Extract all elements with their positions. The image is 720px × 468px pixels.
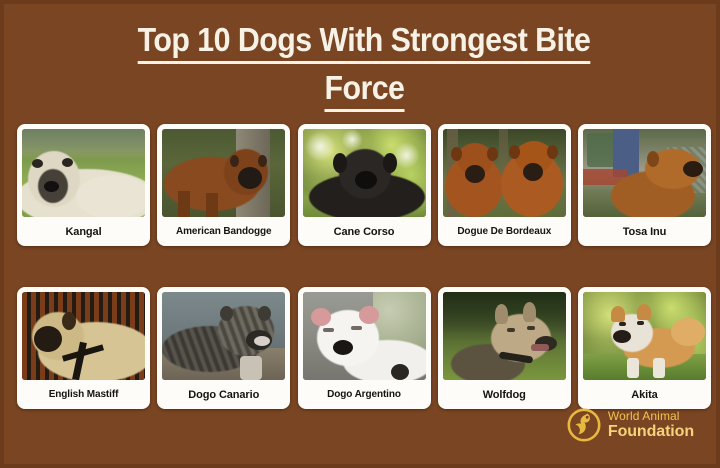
- dog-card-cane-corso[interactable]: Cane Corso: [298, 124, 431, 246]
- dog-photo-tosa-inu: [583, 129, 706, 217]
- dog-label-akita: Akita: [583, 380, 706, 409]
- dog-label-dogo-argentino: Dogo Argentino: [303, 380, 426, 409]
- page-title: Top 10 Dogs With Strongest Bite Force: [4, 20, 720, 112]
- dog-card-dogo-argentino[interactable]: Dogo Argentino: [298, 287, 431, 409]
- dog-card-dogo-canario[interactable]: Dogo Canario: [157, 287, 290, 409]
- dog-label-dogue-de-bordeaux: Dogue De Bordeaux: [443, 217, 566, 246]
- dog-photo-dogue-de-bordeaux: [443, 129, 566, 217]
- dog-photo-cane-corso: [303, 129, 426, 217]
- dog-card-row-2: English Mastiff Dogo Canario: [17, 287, 711, 409]
- page-title-line-1: Top 10 Dogs With Strongest Bite: [138, 20, 591, 64]
- dog-card-wolfdog[interactable]: Wolfdog: [438, 287, 571, 409]
- dog-photo-wolfdog: [443, 292, 566, 380]
- brand-line-2: Foundation: [608, 424, 694, 440]
- dog-card-kangal[interactable]: Kangal: [17, 124, 150, 246]
- dog-card-dogue-de-bordeaux[interactable]: Dogue De Bordeaux: [438, 124, 571, 246]
- dog-label-kangal: Kangal: [22, 217, 145, 246]
- dog-photo-dogo-argentino: [303, 292, 426, 380]
- world-animal-foundation-logo-icon: [567, 408, 601, 442]
- dog-photo-dogo-canario: [162, 292, 285, 380]
- footer-brand-logo[interactable]: World Animal Foundation: [567, 408, 694, 442]
- page-title-line-2: Force: [324, 68, 404, 112]
- brand-line-1: World Animal: [608, 410, 694, 422]
- dog-card-row-1: Kangal American Bandogge: [17, 124, 711, 246]
- infographic-poster: Top 10 Dogs With Strongest Bite Force Ka…: [0, 0, 720, 468]
- dog-photo-akita: [583, 292, 706, 380]
- dog-label-tosa-inu: Tosa Inu: [583, 217, 706, 246]
- dog-label-american-bandogge: American Bandogge: [162, 217, 285, 246]
- dog-label-wolfdog: Wolfdog: [443, 380, 566, 409]
- dog-card-tosa-inu[interactable]: Tosa Inu: [578, 124, 711, 246]
- dog-photo-american-bandogge: [162, 129, 285, 217]
- dog-label-english-mastiff: English Mastiff: [22, 380, 145, 409]
- dog-card-english-mastiff[interactable]: English Mastiff: [17, 287, 150, 409]
- dog-label-dogo-canario: Dogo Canario: [162, 380, 285, 409]
- dog-photo-kangal: [22, 129, 145, 217]
- dog-photo-english-mastiff: [22, 292, 145, 380]
- dog-label-cane-corso: Cane Corso: [303, 217, 426, 246]
- dog-card-akita[interactable]: Akita: [578, 287, 711, 409]
- brand-wordmark: World Animal Foundation: [608, 410, 694, 440]
- dog-card-american-bandogge[interactable]: American Bandogge: [157, 124, 290, 246]
